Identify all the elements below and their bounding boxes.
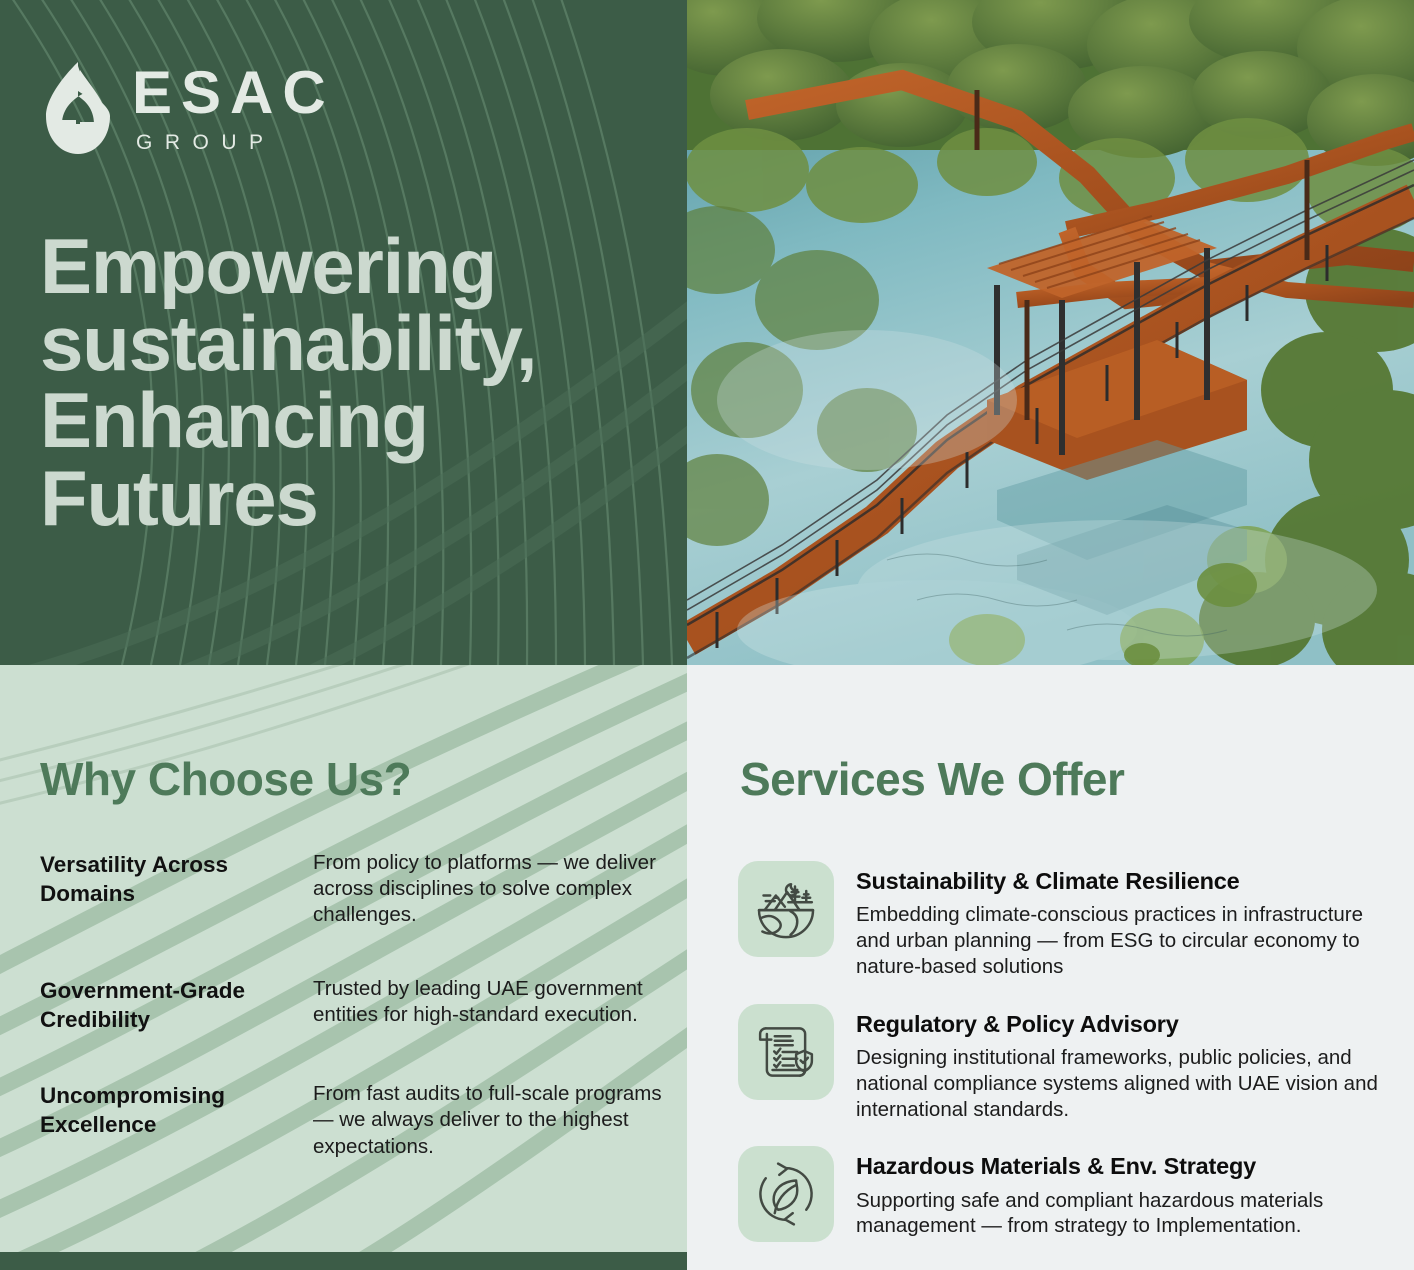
item-term: Government-Grade Credibility [40, 976, 293, 1035]
service-text: Sustainability & Climate Resilience Embe… [856, 861, 1398, 980]
bottom-accent-bar [0, 1252, 687, 1270]
hero-headline: Empoweringsustainability,EnhancingFuture… [40, 228, 660, 537]
services-section: Services We Offer [687, 665, 1414, 1270]
item-description: Trusted by leading UAE government entiti… [313, 976, 665, 1035]
why-choose-us-title: Why Choose Us? [40, 752, 411, 806]
service-description: Designing institutional frameworks, publ… [856, 1045, 1398, 1122]
service-description: Supporting safe and compliant hazardous … [856, 1188, 1398, 1240]
policy-scroll-checklist-shield-icon [750, 1016, 822, 1088]
services-title: Services We Offer [740, 752, 1124, 806]
brand-subtitle: GROUP [136, 132, 335, 153]
item-term: Versatility Across Domains [40, 850, 293, 929]
item-description: From fast audits to full-scale programs … [313, 1081, 665, 1160]
earth-mountains-trees-icon [750, 873, 822, 945]
service-item[interactable]: Regulatory & Policy Advisory Designing i… [738, 1004, 1398, 1123]
service-icon-tile [738, 861, 834, 957]
recycle-leaf-icon [750, 1158, 822, 1230]
service-description: Embedding climate-conscious practices in… [856, 902, 1398, 979]
services-list: Sustainability & Climate Resilience Embe… [738, 861, 1398, 1266]
item-term: Uncompromising Excellence [40, 1081, 293, 1160]
service-item[interactable]: Sustainability & Climate Resilience Embe… [738, 861, 1398, 980]
service-icon-tile [738, 1146, 834, 1242]
why-choose-us-item: Uncompromising Excellence From fast audi… [40, 1081, 665, 1160]
service-name: Hazardous Materials & Env. Strategy [856, 1152, 1398, 1180]
service-text: Regulatory & Policy Advisory Designing i… [856, 1004, 1398, 1123]
brand-name: ESAC [132, 63, 335, 123]
item-description: From policy to platforms — we deliver ac… [313, 850, 665, 929]
why-choose-us-list: Versatility Across Domains From policy t… [40, 850, 665, 1160]
why-choose-us-item: Versatility Across Domains From policy t… [40, 850, 665, 929]
service-icon-tile [738, 1004, 834, 1100]
poster-page: ESAC GROUP Empoweringsustainability,Enha… [0, 0, 1414, 1270]
brand-logo[interactable]: ESAC GROUP [44, 62, 335, 154]
why-choose-us-section: Why Choose Us? Versatility Across Domain… [0, 665, 687, 1270]
leaf-mark-icon [44, 62, 112, 154]
service-text: Hazardous Materials & Env. Strategy Supp… [856, 1146, 1398, 1242]
service-item[interactable]: Hazardous Materials & Env. Strategy Supp… [738, 1146, 1398, 1242]
why-choose-us-item: Government-Grade Credibility Trusted by … [40, 976, 665, 1035]
photo-illustration [687, 0, 1414, 665]
service-name: Regulatory & Policy Advisory [856, 1010, 1398, 1038]
mangrove-boardwalk-photo [687, 0, 1414, 665]
hero-section: ESAC GROUP Empoweringsustainability,Enha… [0, 0, 687, 665]
service-name: Sustainability & Climate Resilience [856, 867, 1398, 895]
